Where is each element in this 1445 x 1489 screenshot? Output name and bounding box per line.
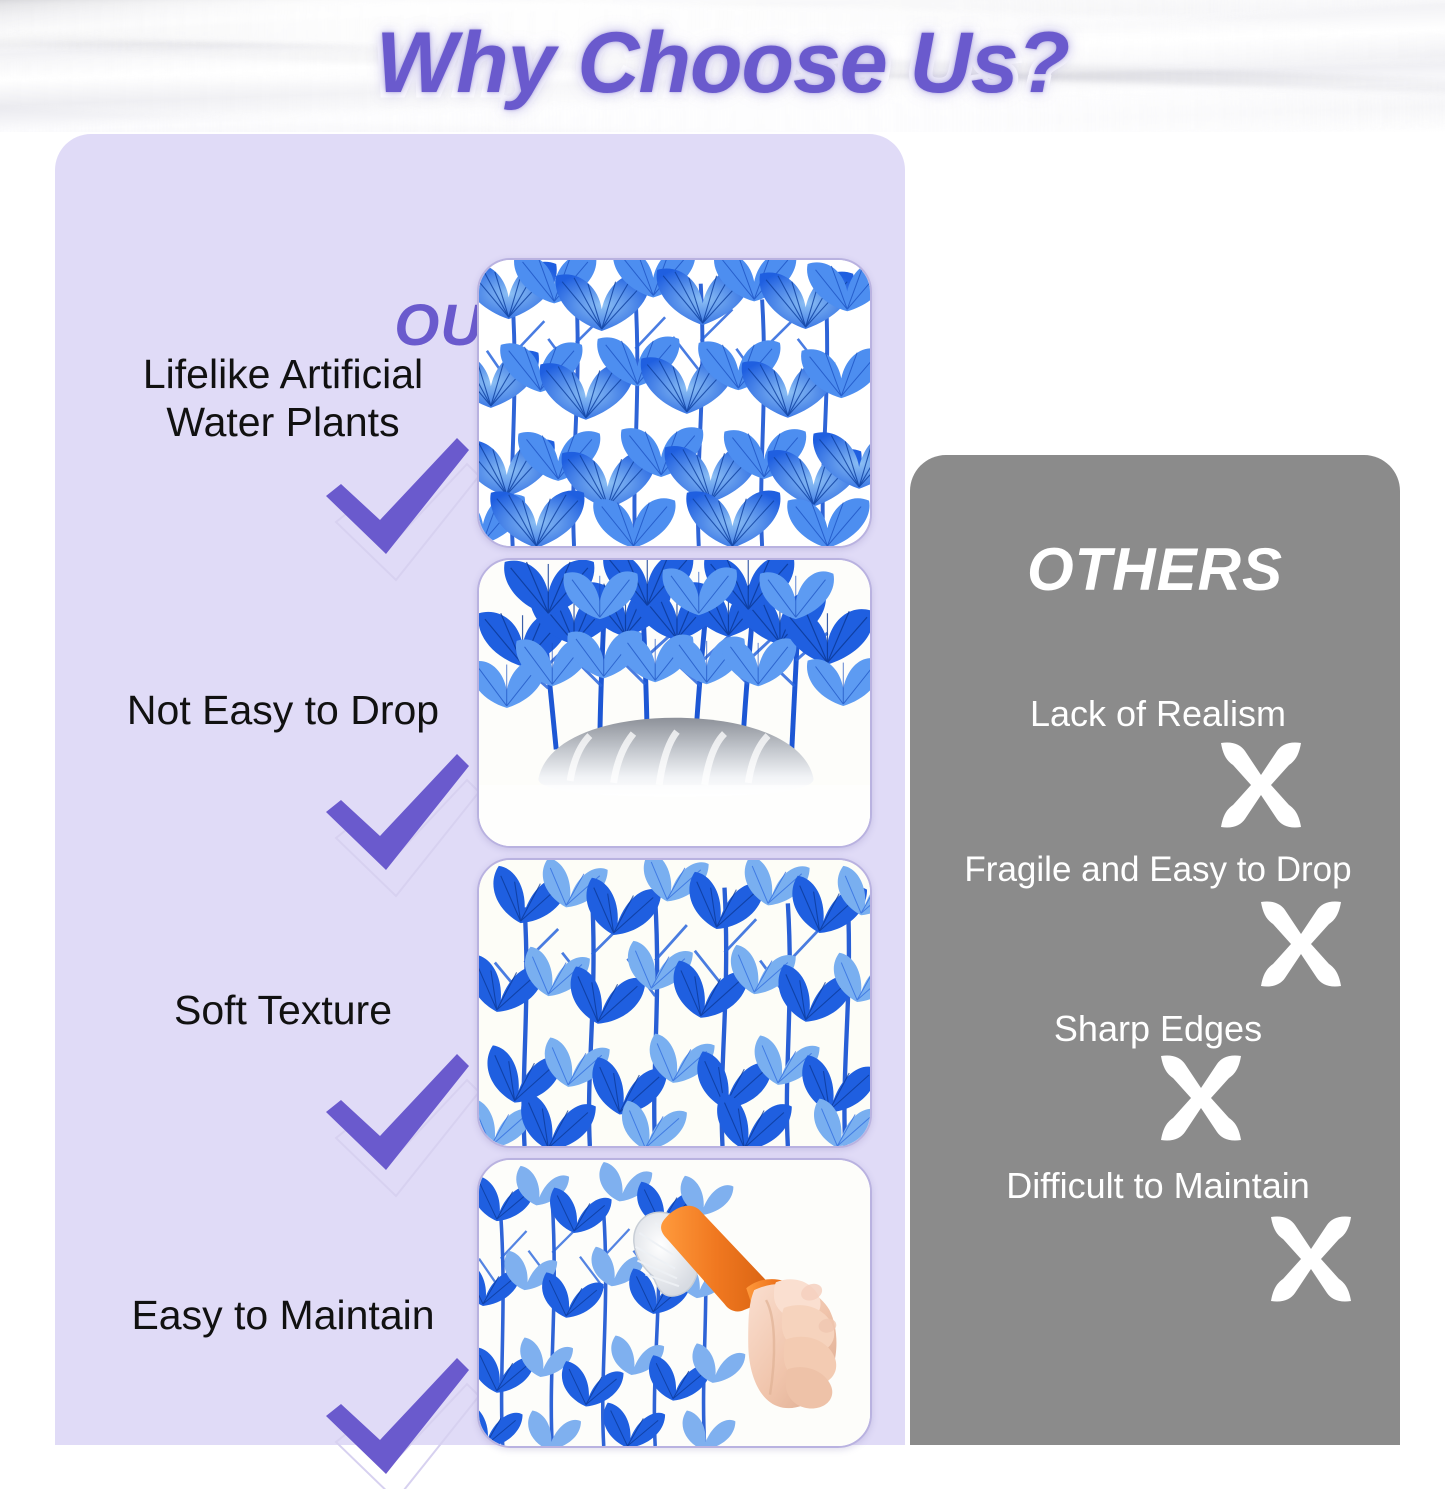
ours-feature-photo xyxy=(477,1158,872,1448)
page-title: Why Choose Us? xyxy=(0,14,1445,113)
ours-feature-label: Soft Texture xyxy=(73,987,493,1035)
ours-feature-photo xyxy=(477,858,872,1148)
ours-feature-row: Not Easy to Drop xyxy=(55,554,905,854)
others-feature-label: Difficult to Maintain xyxy=(924,1165,1392,1207)
others-feature-row: Fragile and Easy to Drop xyxy=(910,850,1400,1028)
ours-feature-row: Easy to Maintain xyxy=(55,1154,905,1454)
others-feature-row: Sharp Edges xyxy=(910,1008,1400,1186)
others-feature-row: Lack of Realism xyxy=(910,693,1400,871)
ours-feature-row: Soft Texture xyxy=(55,854,905,1154)
ours-feature-photo xyxy=(477,558,872,848)
others-feature-label: Lack of Realism xyxy=(924,693,1392,735)
cross-mark-icon xyxy=(1255,898,1347,990)
ours-feature-label: Lifelike ArtificialWater Plants xyxy=(73,351,493,447)
cross-mark-icon xyxy=(1155,1052,1247,1144)
others-feature-label: Fragile and Easy to Drop xyxy=(924,850,1392,890)
ours-feature-label: Not Easy to Drop xyxy=(73,687,493,735)
ours-panel: OURS Lifelike ArtificialWater Plants xyxy=(55,134,905,1445)
others-heading: OTHERS xyxy=(910,535,1400,604)
check-mark-icon xyxy=(310,434,475,564)
others-feature-row: Difficult to Maintain xyxy=(910,1165,1400,1343)
ours-feature-row: Lifelike ArtificialWater Plants xyxy=(55,254,905,554)
ours-feature-label: Easy to Maintain xyxy=(73,1292,493,1340)
ours-feature-photo xyxy=(477,258,872,548)
check-mark-icon xyxy=(310,1354,475,1484)
others-feature-label: Sharp Edges xyxy=(924,1008,1392,1050)
cross-mark-icon xyxy=(1265,1213,1357,1305)
cross-mark-icon xyxy=(1215,739,1307,831)
others-panel: OTHERS Lack of Realism Fragile and Easy … xyxy=(910,455,1400,1445)
